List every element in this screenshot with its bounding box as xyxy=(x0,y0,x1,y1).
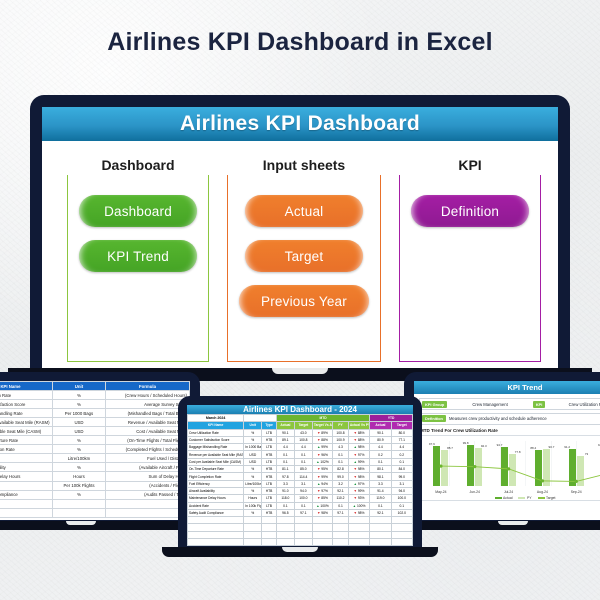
center-dashboard: Airlines KPI Dashboard - 2024 March 2024… xyxy=(187,405,413,546)
cell-mtd-py: 0.1 xyxy=(333,451,349,458)
cell-ytd-target: 3.1 xyxy=(391,480,412,487)
cell-type: HTB xyxy=(262,466,277,473)
kpi-trend-chart: 97.988.799.892.394.777.888.490.791.27394… xyxy=(419,435,600,501)
cell-mtd-actual: 81.1 xyxy=(276,466,294,473)
table-row: Fuel EfficiencyLitre/100kmFuel Used / Di… xyxy=(0,454,190,463)
table-row: Aircraft Availability%(Available Aircraf… xyxy=(0,463,190,472)
cell-unit: % xyxy=(52,445,105,454)
cell-mtd-actual: 3.3 xyxy=(276,480,294,487)
cell-kpi-name: Maintenance Delay Hours xyxy=(188,495,244,502)
cell-mtd-actual: 118.0 xyxy=(276,495,294,502)
cell-ytd-target: 84.0 xyxy=(391,466,412,473)
chart-title: MTD Trend For Crew Utilization Rate xyxy=(420,428,600,433)
cell-mtd-target-vs-actual: ▼ 95% xyxy=(312,466,332,473)
table-row: Crew Utilization Rate%(Crew Hours / Sche… xyxy=(0,391,190,400)
main-laptop-screen: Airlines KPI Dashboard Dashboard Dashboa… xyxy=(42,107,558,368)
kpi-definition-row: Definition Measures crew productivity an… xyxy=(419,413,600,425)
cell-mtd-actual-vs-py: ▲ 99% xyxy=(348,458,369,465)
cell-unit: Litre/100km xyxy=(52,454,105,463)
table-row: Safety Audit Compliance%HTB96.597.1▼ 98%… xyxy=(188,509,413,516)
cell-type: LTB xyxy=(262,502,277,509)
cell-mtd-actual: 0.1 xyxy=(276,451,294,458)
cell-type: HTB xyxy=(262,487,277,494)
cell-mtd-py: 97.1 xyxy=(333,509,349,516)
cell-unit: In 100k Flgt xyxy=(244,502,262,509)
cell-ytd-actual: 91.4 xyxy=(370,487,391,494)
table-row: Accident RatePer 100k Flights(Accidents … xyxy=(0,481,190,490)
cell-mtd-actual: 91.0 xyxy=(276,487,294,494)
table-row: Aircraft Availability%HTB91.094.0▼ 97%92… xyxy=(188,487,413,494)
col-unit: Unit xyxy=(52,382,105,391)
left-laptop-screen: KPI Name Unit Formula Crew Utilization R… xyxy=(0,381,190,520)
cell-mtd-actual-vs-py: ▼ 98% xyxy=(348,466,369,473)
cell-type: LTB xyxy=(262,480,277,487)
right-laptop-screen: KPI Trend KPI Group Crew Management KPI … xyxy=(414,381,600,520)
cell-mtd-py: 99.0 xyxy=(333,473,349,480)
cell-kpi-name: Flight Completion Rate xyxy=(188,473,244,480)
right-laptop-bezel: KPI Trend KPI Group Crew Management KPI … xyxy=(404,372,600,528)
cell-mtd-actual-vs-py: ▼ 88% xyxy=(348,436,369,443)
cell-mtd-target-vs-actual: ▼ 99% xyxy=(312,473,332,480)
group-ytd: YTD xyxy=(370,415,413,422)
table-row: Customer Satisfaction Score%HTB89.1100.8… xyxy=(188,436,413,443)
kpi-trend-body: KPI Group Crew Management KPI Crew Utili… xyxy=(414,394,600,505)
cell-mtd-actual-vs-py: ▼ 98% xyxy=(348,473,369,480)
button-actual[interactable]: Actual xyxy=(245,195,363,227)
cell-mtd-target-vs-actual: ▼ 88% xyxy=(312,436,332,443)
cell-formula: (Mishandled Bags / Total Bags) xyxy=(106,409,190,418)
cell-ytd-target: 0.2 xyxy=(391,451,412,458)
cell-mtd-actual-vs-py: ▲ 100% xyxy=(348,502,369,509)
group-header-row: March 2024 MTD YTD xyxy=(188,415,413,422)
cell-kpi-name: Accident Rate xyxy=(0,481,52,490)
cell-mtd-target: 0.1 xyxy=(294,451,312,458)
cell-mtd-target-vs-actual: ▼ 85% xyxy=(312,495,332,502)
cell-type: LTB xyxy=(262,458,277,465)
cell-mtd-target: 114.4 xyxy=(294,473,312,480)
cell-kpi-name: On-Time Departure Rate xyxy=(0,436,52,445)
button-kpi-trend[interactable]: KPI Trend xyxy=(79,240,197,272)
cell-mtd-py: 100.9 xyxy=(333,436,349,443)
group-mtd: MTD xyxy=(276,415,369,422)
cell-ytd-actual: 4.4 xyxy=(370,444,391,451)
table-row: Flight Completion Rate%HTB97.8114.4▼ 99%… xyxy=(188,473,413,480)
cell-ytd-target: 0.1 xyxy=(391,502,412,509)
col-type: Type xyxy=(262,422,277,429)
col-mtd-actual: Actual xyxy=(276,422,294,429)
cell-mtd-target-vs-actual: ▼ 97% xyxy=(312,487,332,494)
col-mtd-py: PY xyxy=(333,422,349,429)
center-kpi-table: March 2024 MTD YTD KPI Name Unit Type Ac… xyxy=(187,414,413,546)
cell-formula: Sum of Delay Hours xyxy=(106,472,190,481)
group-blank xyxy=(244,415,277,422)
cell-unit: % xyxy=(244,466,262,473)
cell-kpi-name: Maintenance Delay Hours xyxy=(0,472,52,481)
main-laptop-bezel: Airlines KPI Dashboard Dashboard Dashboa… xyxy=(30,95,570,380)
kpi-value: Crew Utilization Rate xyxy=(548,402,600,407)
cell-mtd-target-vs-actual: ▼ 98% xyxy=(312,509,332,516)
cell-mtd-target-vs-actual: ▲ 99% xyxy=(312,444,332,451)
left-laptop-bezel: KPI Name Unit Formula Crew Utilization R… xyxy=(0,372,200,528)
cell-mtd-actual-vs-py: ▼ 88% xyxy=(348,429,369,436)
panel-dashboard: Dashboard Dashboard KPI Trend xyxy=(67,155,209,368)
col-ytd-actual: Actual xyxy=(370,422,391,429)
col-kpi-name: KPI Name xyxy=(188,422,244,429)
cell-kpi-name: On-Time Departure Rate xyxy=(188,466,244,473)
cell-mtd-py: 92.1 xyxy=(333,487,349,494)
cell-ytd-target: 94.0 xyxy=(391,487,412,494)
cell-kpi-name: Cost per Available Seat Mile (CASM) xyxy=(0,427,52,436)
cell-kpi-name: Customer Satisfaction Score xyxy=(188,436,244,443)
table-row: Fuel EfficiencyLitre/100kmLTB3.33.1▲ 94%… xyxy=(188,480,413,487)
cell-mtd-target: 100.0 xyxy=(294,495,312,502)
cell-kpi-name: Baggage Mishandling Rate xyxy=(188,444,244,451)
cell-mtd-actual-vs-py: ▼ 99% xyxy=(348,487,369,494)
table-row: Baggage Mishandling RateIn 1000 BagLTB4.… xyxy=(188,444,413,451)
cell-type: LTB xyxy=(262,429,277,436)
panel-dashboard-title: Dashboard xyxy=(67,155,209,175)
left-laptop-notch xyxy=(66,521,96,525)
main-dashboard-header: Airlines KPI Dashboard xyxy=(42,107,558,141)
cell-unit: USD xyxy=(52,427,105,436)
cell-mtd-actual: 96.5 xyxy=(276,509,294,516)
cell-ytd-target: 0.1 xyxy=(391,458,412,465)
chart-plot-area: 97.988.799.892.394.777.888.490.791.27394… xyxy=(424,441,600,486)
cell-unit: % xyxy=(52,391,105,400)
cell-ytd-actual: 92.1 xyxy=(370,509,391,516)
chart-x-label: Aug-24 xyxy=(530,490,555,494)
cell-mtd-target: 85.0 xyxy=(294,466,312,473)
cell-kpi-name: Crew Utilization Rate xyxy=(0,391,52,400)
table-row: Revenue per Available Seat Mile (RASM)US… xyxy=(188,451,413,458)
chart-legend-item: PY xyxy=(518,496,531,500)
chart-x-axis: May-24Jun-24Jul-24Aug-24Sep-24Oct-24 xyxy=(424,490,600,494)
cell-mtd-target: 97.1 xyxy=(294,509,312,516)
cell-mtd-actual: 89.1 xyxy=(276,436,294,443)
cell-ytd-target: 102.0 xyxy=(391,509,412,516)
cell-kpi-name: Flight Completion Rate xyxy=(0,445,52,454)
cell-unit: Per 100k Flights xyxy=(52,481,105,490)
main-laptop-notch xyxy=(272,368,328,374)
cell-ytd-actual: 3.3 xyxy=(370,480,391,487)
table-header-row: KPI Name Unit Formula xyxy=(0,382,190,391)
kpi-trend-header: KPI Trend xyxy=(414,381,600,394)
chart-x-label: May-24 xyxy=(428,490,453,494)
cell-mtd-target: 0.1 xyxy=(294,458,312,465)
cell-ytd-actual: 119.0 xyxy=(370,495,391,502)
cell-mtd-target-vs-actual: ▲ 100% xyxy=(312,502,332,509)
panel-input-sheets: Input sheets Actual Target Previous Year xyxy=(227,155,381,368)
cell-kpi-name: Safety Audit Compliance xyxy=(188,509,244,516)
button-definition[interactable]: Definition xyxy=(411,195,529,227)
table-row-empty xyxy=(188,517,413,524)
table-row: Maintenance Delay HoursHoursLTB118.0100.… xyxy=(188,495,413,502)
kpi-definition-table: KPI Name Unit Formula Crew Utilization R… xyxy=(0,381,190,518)
cell-kpi-name: Revenue per Available Seat Mile (RASM) xyxy=(188,451,244,458)
cell-mtd-py: 100.8 xyxy=(333,429,349,436)
cell-unit: Litre/100km xyxy=(244,480,262,487)
cell-ytd-actual: 80.1 xyxy=(370,466,391,473)
cell-formula: (On-Time Flights / Total Flights) xyxy=(106,436,190,445)
col-ytd-target: Target xyxy=(391,422,412,429)
cell-mtd-target: 0.1 xyxy=(294,502,312,509)
cell-unit: USD xyxy=(244,458,262,465)
cell-mtd-py: 3.2 xyxy=(333,480,349,487)
center-laptop-notch xyxy=(282,547,318,552)
table-row-empty xyxy=(188,531,413,538)
cell-ytd-actual: 98.1 xyxy=(370,473,391,480)
cell-unit: % xyxy=(244,487,262,494)
table-row: Revenue per Available Seat Mile (RASM)US… xyxy=(0,418,190,427)
chart-legend-item: Target xyxy=(538,496,556,500)
cell-kpi-name: Cost per Available Seat Mile (CASM) xyxy=(188,458,244,465)
cell-kpi-name: Crew Utilization Rate xyxy=(188,429,244,436)
cell-formula: Cost / Available Seat Miles xyxy=(106,427,190,436)
cell-type: HTB xyxy=(262,451,277,458)
cell-mtd-target-vs-actual: ▼ 96% xyxy=(312,451,332,458)
chart-legend: ActualPYTarget xyxy=(420,496,600,500)
cell-mtd-actual-vs-py: ▲ 98% xyxy=(348,444,369,451)
period-cell: March 2024 xyxy=(188,415,244,422)
cell-type: LTB xyxy=(262,444,277,451)
cell-mtd-actual: 0.1 xyxy=(276,458,294,465)
cell-mtd-target: 43.0 xyxy=(294,429,312,436)
table-row: Customer Satisfaction Score%Average Surv… xyxy=(0,400,190,409)
cell-unit: Per 1000 Bags xyxy=(52,409,105,418)
cell-formula: Fuel Used / Distance xyxy=(106,454,190,463)
cell-unit: % xyxy=(244,509,262,516)
cell-kpi-name: Fuel Efficiency xyxy=(0,454,52,463)
cell-formula: Revenue / Available Seat Miles xyxy=(106,418,190,427)
cell-formula: (Crew Hours / Scheduled Hours) xyxy=(106,391,190,400)
cell-mtd-py: 4.3 xyxy=(333,444,349,451)
cell-unit: % xyxy=(52,490,105,499)
cell-formula: (Accidents / Flights) xyxy=(106,481,190,490)
cell-kpi-name: Customer Satisfaction Score xyxy=(0,400,52,409)
cell-ytd-actual: 0.1 xyxy=(370,502,391,509)
cell-mtd-py: 82.8 xyxy=(333,466,349,473)
table-row: Baggage Mishandling RatePer 1000 Bags(Mi… xyxy=(0,409,190,418)
chart-x-label: Sep-24 xyxy=(564,490,589,494)
cell-kpi-name: Aircraft Availability xyxy=(0,463,52,472)
table-row: On-Time Departure Rate%HTB81.185.0▼ 95%8… xyxy=(188,466,413,473)
cell-formula: Average Survey Score xyxy=(106,400,190,409)
cell-mtd-py: 110.2 xyxy=(333,495,349,502)
cell-unit: % xyxy=(52,436,105,445)
cell-mtd-py: 0.1 xyxy=(333,502,349,509)
cell-ytd-actual: 0.2 xyxy=(370,451,391,458)
cell-unit: % xyxy=(244,436,262,443)
cell-mtd-actual: 97.8 xyxy=(276,473,294,480)
kpi-group-label: KPI Group xyxy=(422,401,447,408)
cell-unit: % xyxy=(52,463,105,472)
navigation-panels: Dashboard Dashboard KPI Trend Input shee… xyxy=(42,141,558,368)
cell-ytd-target: 99.0 xyxy=(391,473,412,480)
table-row: Safety Audit Compliance%(Audits Passed /… xyxy=(0,490,190,499)
table-row: Crew Utilization Rate%LTB90.143.0▼ 89%10… xyxy=(188,429,413,436)
col-mtd-target-vs-actual: Target Vs Actual xyxy=(312,422,332,429)
cell-ytd-target: 77.1 xyxy=(391,436,412,443)
definition-value: Measures crew productivity and schedule … xyxy=(449,416,600,421)
button-target[interactable]: Target xyxy=(245,240,363,272)
cell-formula: (Completed Flights / Scheduled) xyxy=(106,445,190,454)
kpi-label: KPI xyxy=(533,401,546,408)
cell-mtd-actual: 90.1 xyxy=(276,429,294,436)
col-unit: Unit xyxy=(244,422,262,429)
cell-mtd-target: 100.8 xyxy=(294,436,312,443)
cell-ytd-actual: 80.9 xyxy=(370,436,391,443)
cell-kpi-name: Safety Audit Compliance xyxy=(0,490,52,499)
col-formula: Formula xyxy=(106,382,190,391)
cell-unit: % xyxy=(244,429,262,436)
table-row-empty xyxy=(0,508,190,517)
button-previous-year[interactable]: Previous Year xyxy=(239,285,369,317)
table-row-empty xyxy=(0,499,190,508)
column-header-row: KPI Name Unit Type Actual Target Target … xyxy=(188,422,413,429)
cell-mtd-py: 0.1 xyxy=(333,458,349,465)
cell-ytd-target: 80.0 xyxy=(391,429,412,436)
table-row: Flight Completion Rate%(Completed Flight… xyxy=(0,445,190,454)
panel-kpi: KPI Definition xyxy=(399,155,541,368)
cell-ytd-target: 100.0 xyxy=(391,495,412,502)
col-kpi-name: KPI Name xyxy=(0,382,52,391)
cell-mtd-actual: 0.1 xyxy=(276,502,294,509)
table-row: Cost per Available Seat Mile (CASM)USDCo… xyxy=(0,427,190,436)
cell-type: HTB xyxy=(262,509,277,516)
cell-kpi-name: Baggage Mishandling Rate xyxy=(0,409,52,418)
cell-mtd-actual-vs-py: ▲ 97% xyxy=(348,480,369,487)
chart-legend-item: Actual xyxy=(495,496,513,500)
cell-type: HTB xyxy=(262,436,277,443)
kpi-group-value: Crew Management xyxy=(450,402,530,407)
center-laptop-screen: Airlines KPI Dashboard - 2024 March 2024… xyxy=(187,405,413,546)
table-row: Maintenance Delay HoursHoursSum of Delay… xyxy=(0,472,190,481)
cell-unit: % xyxy=(244,473,262,480)
cell-mtd-target: 4.4 xyxy=(294,444,312,451)
panel-kpi-title: KPI xyxy=(399,155,541,175)
cell-ytd-actual: 0.1 xyxy=(370,458,391,465)
table-row: Accident RateIn 100k FlgtLTB0.10.1▲ 100%… xyxy=(188,502,413,509)
chart-x-label: Jul-24 xyxy=(496,490,521,494)
cell-type: HTB xyxy=(262,473,277,480)
table-row-empty xyxy=(188,524,413,531)
cell-unit: USD xyxy=(52,418,105,427)
page-title: Airlines KPI Dashboard in Excel xyxy=(0,28,600,57)
cell-mtd-actual-vs-py: ▼ 97% xyxy=(348,451,369,458)
cell-kpi-name: Revenue per Available Seat Mile (RASM) xyxy=(0,418,52,427)
col-mtd-actual-vs-py: Actual Vs PY xyxy=(348,422,369,429)
center-laptop-bezel: Airlines KPI Dashboard - 2024 March 2024… xyxy=(178,396,422,554)
cell-mtd-actual: 4.4 xyxy=(276,444,294,451)
cell-unit: Hours xyxy=(52,472,105,481)
definition-label: Definition xyxy=(422,415,446,422)
cell-ytd-actual: 90.1 xyxy=(370,429,391,436)
cell-kpi-name: Accident Rate xyxy=(188,502,244,509)
chart-target-line xyxy=(424,441,600,520)
table-row-empty xyxy=(188,539,413,546)
kpi-group-row[interactable]: KPI Group Crew Management KPI Crew Utili… xyxy=(419,398,600,410)
cell-mtd-target-vs-actual: ▼ 89% xyxy=(312,429,332,436)
cell-unit: % xyxy=(52,400,105,409)
cell-formula: (Audits Passed / Total) xyxy=(106,490,190,499)
cell-mtd-target: 94.0 xyxy=(294,487,312,494)
panel-input-sheets-title: Input sheets xyxy=(227,155,381,175)
cell-unit: In 1000 Bag xyxy=(244,444,262,451)
table-row: Cost per Available Seat Mile (CASM)USDLT… xyxy=(188,458,413,465)
cell-mtd-actual-vs-py: ▼ 98% xyxy=(348,509,369,516)
cell-mtd-target: 3.1 xyxy=(294,480,312,487)
cell-mtd-target-vs-actual: ▲ 102% xyxy=(312,458,332,465)
chart-x-label: Jun-24 xyxy=(462,490,487,494)
cell-kpi-name: Fuel Efficiency xyxy=(188,480,244,487)
kpi-definition-sheet: KPI Name Unit Formula Crew Utilization R… xyxy=(0,381,190,520)
button-dashboard[interactable]: Dashboard xyxy=(79,195,197,227)
cell-formula: (Available Aircraft / Fleet) xyxy=(106,463,190,472)
table-row: On-Time Departure Rate%(On-Time Flights … xyxy=(0,436,190,445)
cell-mtd-actual-vs-py: ▼ 93% xyxy=(348,495,369,502)
cell-unit: USD xyxy=(244,451,262,458)
cell-mtd-target-vs-actual: ▲ 94% xyxy=(312,480,332,487)
cell-kpi-name: Aircraft Availability xyxy=(188,487,244,494)
col-mtd-target: Target xyxy=(294,422,312,429)
center-dashboard-header: Airlines KPI Dashboard - 2024 xyxy=(187,405,413,414)
cell-type: LTB xyxy=(262,495,277,502)
cell-ytd-target: 4.4 xyxy=(391,444,412,451)
right-laptop-notch xyxy=(498,521,528,525)
cell-unit: Hours xyxy=(244,495,262,502)
